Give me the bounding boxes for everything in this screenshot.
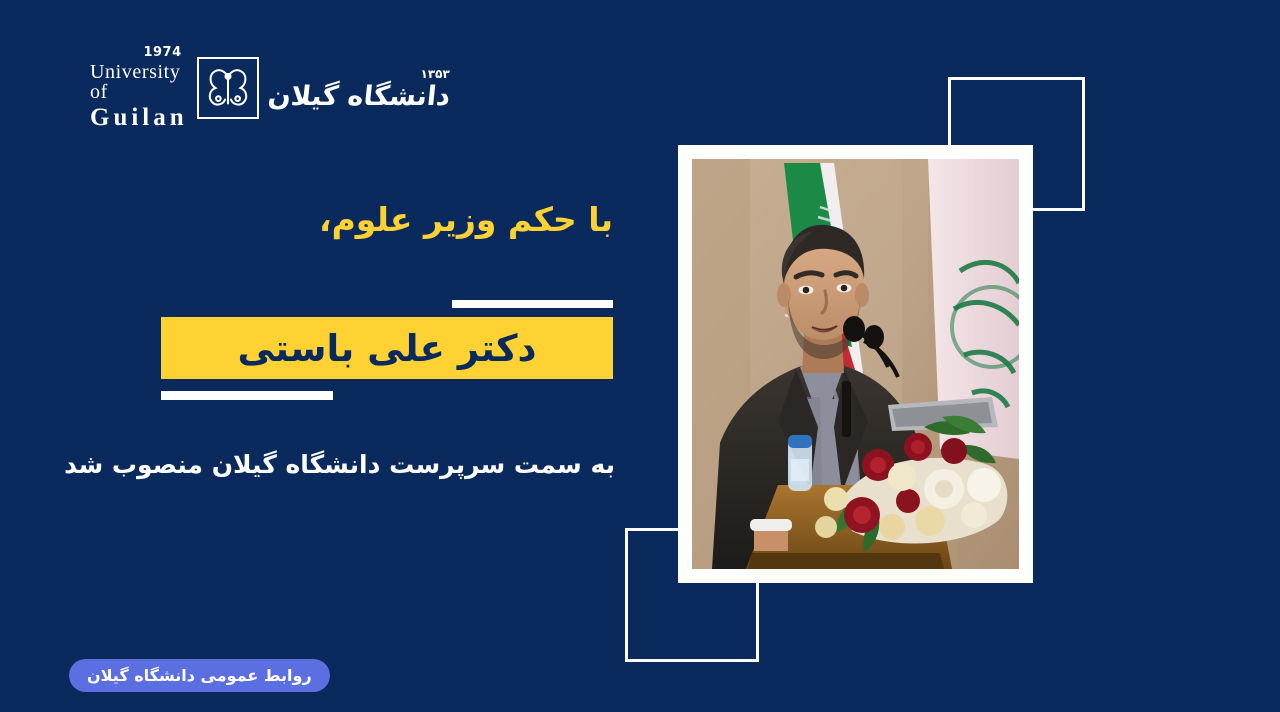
portrait-photo (692, 159, 1019, 569)
university-logo: 1974 University of Guilan ۱۳۵۳ دانشگاه گ… (88, 42, 408, 134)
logo-year-hijri: ۱۳۵۳ (421, 67, 450, 81)
decorative-rule-top (452, 300, 613, 308)
headline-subline: به سمت سرپرست دانشگاه گیلان منصوب شد (64, 447, 615, 482)
logo-guilan-word: Guilan (90, 105, 188, 130)
logo-university-word: University of (90, 62, 188, 102)
appointee-name: دکتر علی باستی (238, 330, 537, 367)
logo-persian-text: ۱۳۵۳ دانشگاه گیلان (268, 67, 450, 110)
logo-year-gregorian: 1974 (143, 46, 181, 59)
logo-english-text: 1974 University of Guilan (90, 46, 188, 130)
headline-kicker: با حکم وزیر علوم، (319, 198, 613, 243)
decorative-rule-bottom (161, 391, 333, 400)
announcement-poster: 1974 University of Guilan ۱۳۵۳ دانشگاه گ… (0, 0, 1280, 712)
public-relations-badge: روابط عمومی دانشگاه گیلان (69, 659, 330, 692)
guilan-university-emblem-icon (197, 57, 259, 119)
public-relations-label: روابط عمومی دانشگاه گیلان (87, 668, 312, 684)
portrait-photo-frame (678, 145, 1033, 583)
appointee-name-band: دکتر علی باستی (161, 317, 613, 379)
logo-persian-name: دانشگاه گیلان (266, 83, 451, 110)
